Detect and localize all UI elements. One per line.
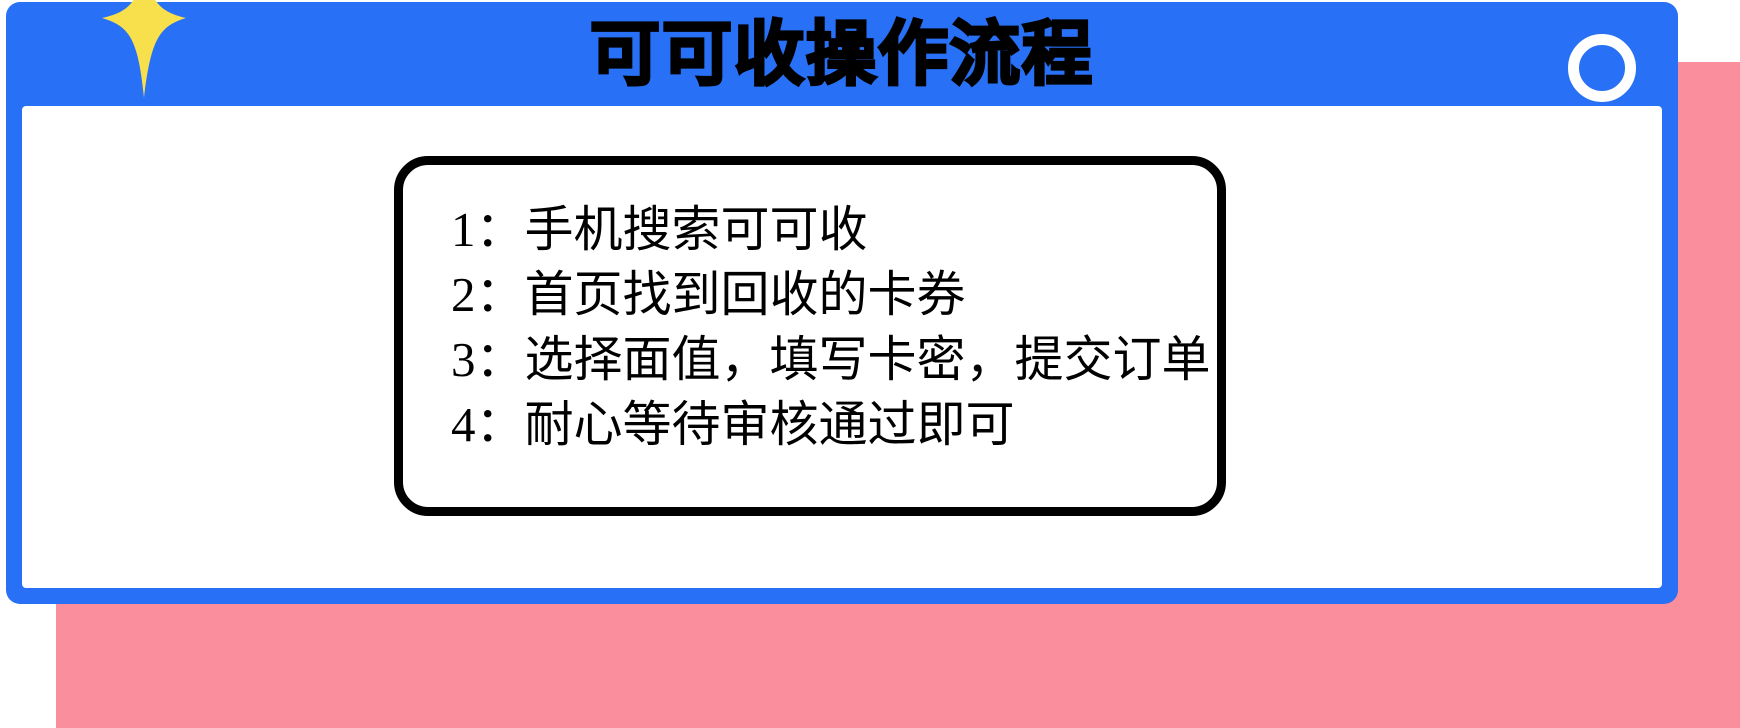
step-number: 1： bbox=[451, 202, 525, 257]
list-item: 1：手机搜索可可收 bbox=[451, 197, 1199, 262]
white-content-panel: 1：手机搜索可可收 2：首页找到回收的卡券 3：选择面值，填写卡密，提交订单 4… bbox=[22, 106, 1662, 588]
list-item: 4：耐心等待审核通过即可 bbox=[451, 392, 1199, 457]
step-number: 3： bbox=[451, 332, 525, 387]
ring-circle-icon bbox=[1568, 34, 1636, 102]
steps-outline-box: 1：手机搜索可可收 2：首页找到回收的卡券 3：选择面值，填写卡密，提交订单 4… bbox=[394, 156, 1226, 516]
blue-card: 可可收操作流程 1：手机搜索可可收 2：首页找到回收的卡券 3：选择面值，填写卡… bbox=[6, 2, 1678, 604]
card-header: 可可收操作流程 bbox=[6, 2, 1678, 106]
step-number: 2： bbox=[451, 267, 525, 322]
step-text: 首页找到回收的卡券 bbox=[525, 266, 966, 323]
steps-list: 1：手机搜索可可收 2：首页找到回收的卡券 3：选择面值，填写卡密，提交订单 4… bbox=[451, 197, 1199, 457]
step-number: 4： bbox=[451, 397, 525, 452]
poster-stage: 可可收操作流程 1：手机搜索可可收 2：首页找到回收的卡券 3：选择面值，填写卡… bbox=[0, 0, 1740, 728]
list-item: 3：选择面值，填写卡密，提交订单 bbox=[451, 327, 1199, 392]
step-text: 选择面值，填写卡密，提交订单 bbox=[525, 331, 1211, 388]
list-item: 2：首页找到回收的卡券 bbox=[451, 262, 1199, 327]
step-text: 手机搜索可可收 bbox=[525, 201, 868, 258]
page-title: 可可收操作流程 bbox=[6, 10, 1678, 98]
step-text: 耐心等待审核通过即可 bbox=[525, 396, 1015, 453]
